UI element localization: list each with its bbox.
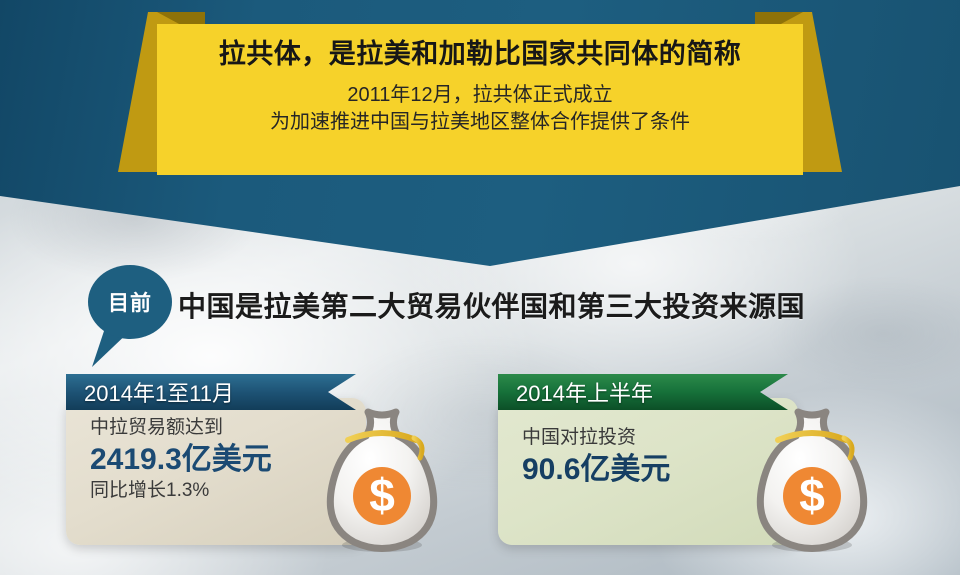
speech-bubble: 目前 <box>88 265 172 339</box>
money-bag-dollar-icon: $ <box>752 404 872 554</box>
svg-text:$: $ <box>369 469 395 521</box>
section-headline: 中国是拉美第二大贸易伙伴国和第三大投资来源国 <box>178 285 805 325</box>
stat-caption: 中拉贸易额达到 <box>90 416 270 440</box>
stat-note: 同比增长1.3% <box>90 479 270 503</box>
banner-subtitle-line-2: 为加速推进中国与拉美地区整体合作提供了条件 <box>270 109 690 136</box>
stat-card-trade-body: 中拉贸易额达到 2419.3亿美元 同比增长1.3% <box>90 416 270 503</box>
stat-caption: 中国对拉投资 <box>522 426 702 450</box>
banner-subtitle-line-1: 2011年12月，拉共体正式成立 <box>270 82 690 109</box>
stat-tag-trade-label: 2014年1至11月 <box>66 376 234 408</box>
stat-value: 90.6亿美元 <box>522 452 702 489</box>
speech-bubble-label: 目前 <box>108 287 152 317</box>
stat-tag-trade: 2014年1至11月 <box>66 374 234 410</box>
stat-card-trade: 中拉贸易额达到 2419.3亿美元 同比增长1.3% <box>66 398 366 545</box>
svg-text:$: $ <box>799 469 825 521</box>
stat-tag-investment: 2014年上半年 <box>498 374 653 410</box>
top-ribbon-banner: 拉共体，是拉美和加勒比国家共同体的简称 2011年12月，拉共体正式成立 为加速… <box>0 0 960 200</box>
stat-tag-investment-label: 2014年上半年 <box>498 376 653 408</box>
banner-title: 拉共体，是拉美和加勒比国家共同体的简称 <box>219 40 742 70</box>
money-bag-dollar-icon: $ <box>322 404 442 554</box>
ribbon-panel: 拉共体，是拉美和加勒比国家共同体的简称 2011年12月，拉共体正式成立 为加速… <box>157 24 803 175</box>
infographic-canvas: 拉共体，是拉美和加勒比国家共同体的简称 2011年12月，拉共体正式成立 为加速… <box>0 0 960 575</box>
stat-card-investment-body: 中国对拉投资 90.6亿美元 <box>522 426 702 489</box>
stat-value: 2419.3亿美元 <box>90 442 270 479</box>
banner-subtitle: 2011年12月，拉共体正式成立 为加速推进中国与拉美地区整体合作提供了条件 <box>270 82 690 136</box>
